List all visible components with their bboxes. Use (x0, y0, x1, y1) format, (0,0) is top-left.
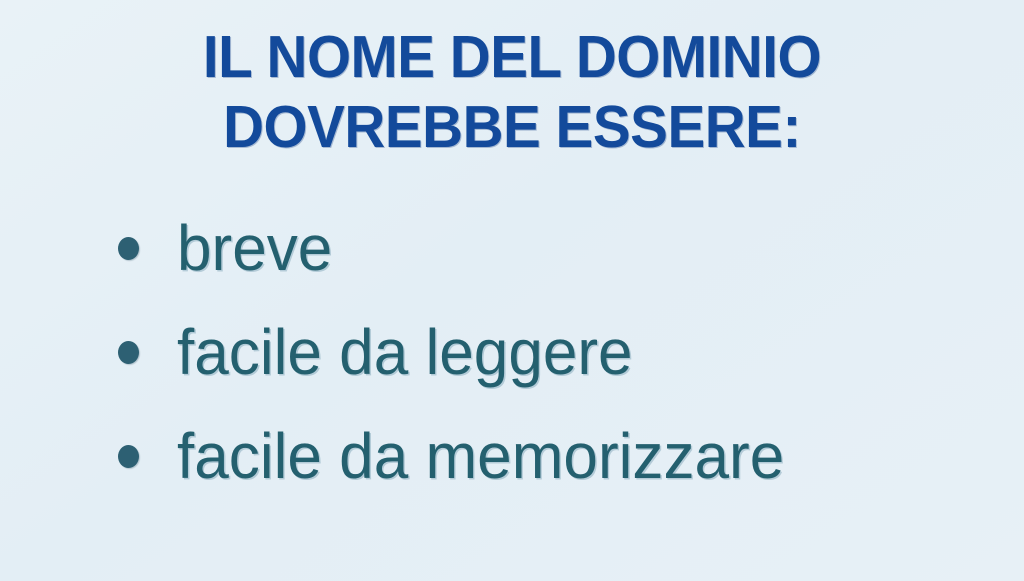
bullet-item-label: facile da memorizzare (177, 421, 784, 491)
bullet-list: breve facile da leggere facile da memori… (0, 196, 1024, 508)
bullet-item-label: facile da leggere (177, 317, 633, 387)
bullet-dot-icon (118, 445, 139, 468)
slide-title-line-1: IL NOME DEL DOMINIO (20, 22, 1003, 92)
list-item: breve (0, 196, 1024, 300)
bullet-dot-icon (118, 341, 139, 364)
list-item: facile da memorizzare (0, 404, 1024, 508)
bullet-item-label: breve (177, 213, 332, 283)
slide-title-line-2: DOVREBBE ESSERE: (20, 92, 1003, 162)
slide-title: IL NOME DEL DOMINIO DOVREBBE ESSERE: (0, 22, 1024, 162)
bullet-dot-icon (118, 237, 139, 260)
presentation-slide: IL NOME DEL DOMINIO DOVREBBE ESSERE: bre… (0, 0, 1024, 581)
list-item: facile da leggere (0, 300, 1024, 404)
